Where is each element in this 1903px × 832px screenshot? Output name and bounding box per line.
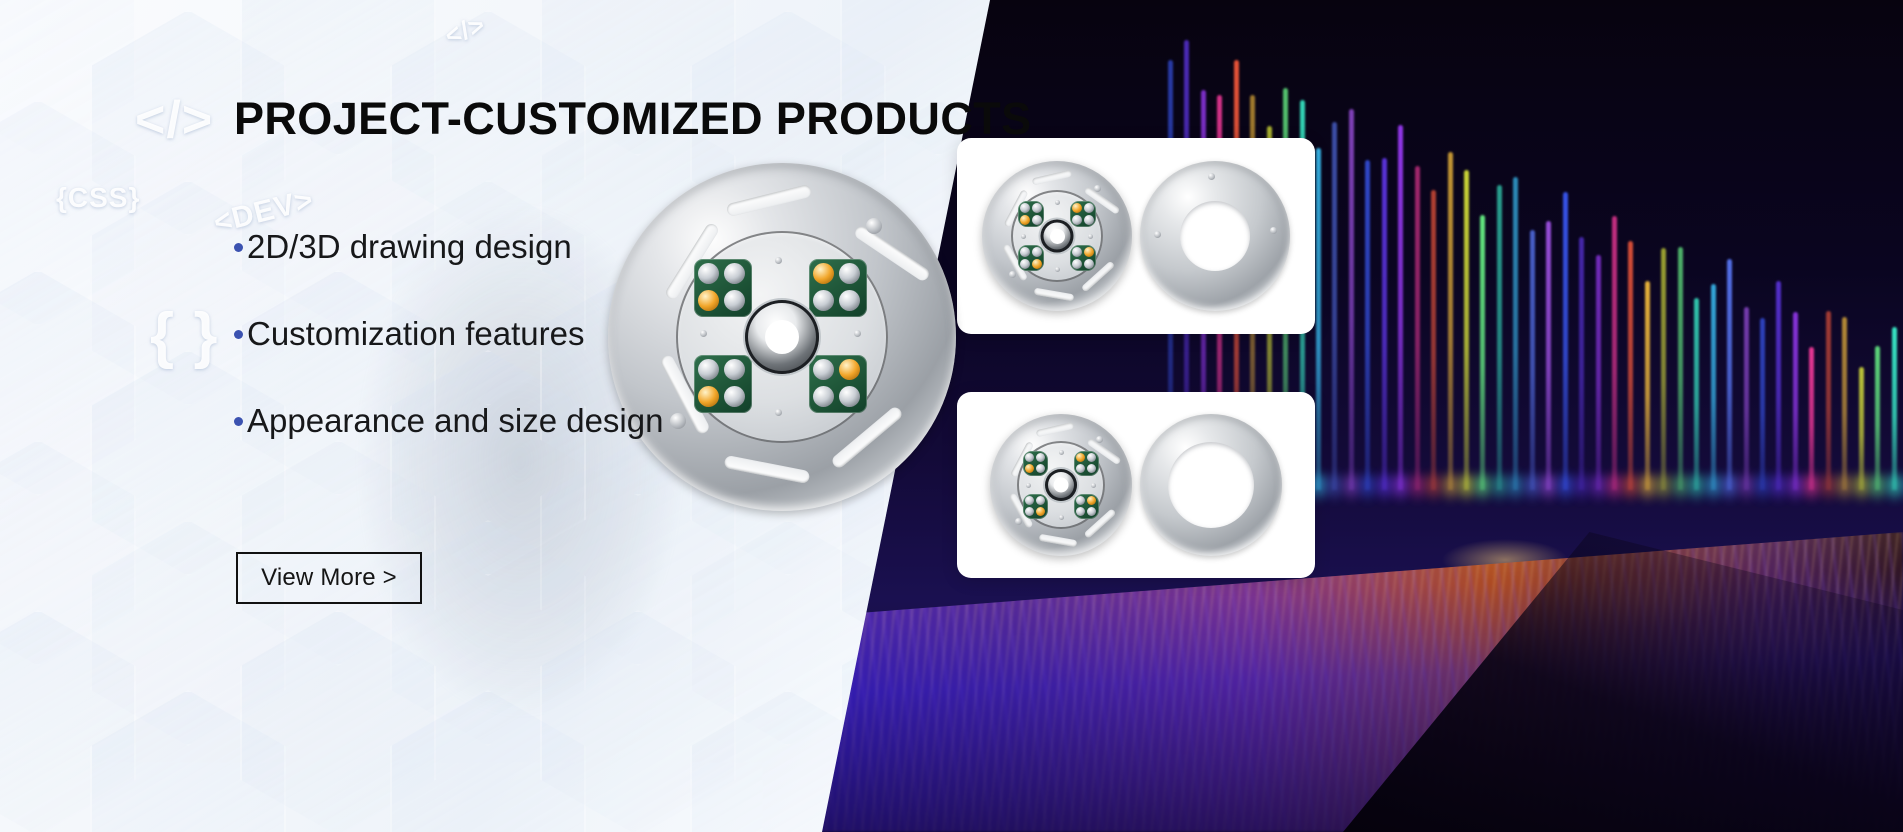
water-nozzle — [1041, 220, 1074, 253]
bullet-dot-icon — [234, 243, 243, 252]
bezel-ring — [1140, 414, 1282, 556]
face-screw — [1091, 483, 1096, 488]
water-jet — [1842, 317, 1847, 490]
product-card — [957, 138, 1315, 334]
led-cluster — [1074, 494, 1099, 519]
water-nozzle — [745, 300, 819, 374]
face-screw — [1059, 515, 1064, 520]
led-cluster — [1023, 494, 1048, 519]
list-item: Appearance and size design — [234, 402, 663, 440]
led-cluster — [1018, 245, 1044, 271]
water-jet — [1448, 152, 1453, 490]
water-jet — [1398, 125, 1403, 490]
face-screw — [1088, 234, 1093, 239]
water-jet — [1793, 312, 1798, 490]
mounting-screw — [1096, 436, 1103, 443]
water-jet — [1694, 298, 1699, 490]
led-cluster — [1070, 245, 1096, 271]
bezel-screw — [1270, 227, 1277, 234]
water-jet — [1661, 248, 1666, 490]
water-jet — [1628, 241, 1633, 490]
water-jet — [1859, 367, 1864, 490]
vent-slot — [1034, 288, 1075, 302]
water-jet — [1563, 192, 1568, 490]
mounting-screw — [1015, 518, 1022, 525]
led-cluster — [1023, 451, 1048, 476]
water-jet — [1579, 237, 1584, 490]
water-jet — [1596, 255, 1601, 490]
led-inner-face — [676, 231, 888, 443]
led-inner-face — [1011, 190, 1103, 282]
mounting-screw — [866, 218, 882, 234]
led-cluster — [1018, 201, 1044, 227]
water-jet — [1365, 160, 1370, 490]
water-jet — [1744, 307, 1749, 490]
face-screw — [775, 409, 782, 416]
led-cluster — [809, 259, 867, 317]
water-jet — [1760, 318, 1765, 490]
water-jet — [1809, 347, 1814, 490]
face-screw — [854, 330, 861, 337]
bezel-ring — [1140, 161, 1290, 311]
list-item: 2D/3D drawing design — [234, 228, 663, 266]
water-nozzle — [1045, 469, 1077, 501]
face-screw — [1021, 234, 1026, 239]
face-screw — [1055, 267, 1060, 272]
face-screw — [1026, 483, 1031, 488]
fixture-body — [982, 161, 1132, 311]
list-item-label: Appearance and size design — [247, 402, 663, 440]
water-jet — [1431, 190, 1436, 490]
water-jet — [1349, 109, 1354, 491]
fixture-body — [990, 414, 1132, 556]
water-jet — [1776, 281, 1781, 490]
water-jet — [1892, 327, 1897, 490]
led-cluster — [694, 355, 752, 413]
mounting-screw — [1094, 185, 1101, 192]
water-jet — [1464, 170, 1469, 490]
face-screw — [700, 330, 707, 337]
water-jet — [1415, 166, 1420, 490]
list-item-label: 2D/3D drawing design — [247, 228, 572, 266]
led-cluster — [1070, 201, 1096, 227]
bullet-dot-icon — [234, 417, 243, 426]
water-jet — [1875, 346, 1880, 490]
product-card — [957, 392, 1315, 578]
feature-list: 2D/3D drawing design Customization featu… — [234, 228, 663, 489]
bezel-screw — [1154, 231, 1161, 238]
water-jet — [1711, 284, 1716, 490]
led-inner-face — [1017, 441, 1105, 529]
water-jet — [1727, 259, 1732, 490]
vent-slot — [1039, 534, 1078, 547]
view-more-button[interactable]: View More > — [236, 552, 422, 604]
led-cluster — [809, 355, 867, 413]
led-cluster — [1074, 451, 1099, 476]
vent-slot — [724, 455, 811, 484]
water-jet — [1645, 281, 1650, 490]
promo-banner: </><DEV>{CSS}{ }</> PROJECT-CUSTOMIZED P… — [0, 0, 1903, 832]
face-screw — [1055, 200, 1060, 205]
bullet-dot-icon — [234, 330, 243, 339]
led-cluster — [694, 259, 752, 317]
page-title: PROJECT-CUSTOMIZED PRODUCTS — [234, 93, 1032, 145]
mounting-screw — [1009, 271, 1016, 278]
face-screw — [1059, 450, 1064, 455]
water-jet — [1678, 247, 1683, 490]
water-jet — [1382, 158, 1387, 490]
mounting-screw — [670, 413, 686, 429]
bezel-hole — [1168, 442, 1254, 528]
water-jet — [1316, 148, 1321, 490]
water-jet — [1826, 311, 1831, 490]
vent-slot — [1032, 170, 1073, 186]
list-item-label: Customization features — [247, 315, 585, 353]
water-jet — [1530, 230, 1535, 490]
vent-slot — [1036, 422, 1075, 437]
water-jet — [1480, 215, 1485, 490]
water-jet — [1612, 216, 1617, 490]
water-jet — [1546, 221, 1551, 490]
water-jet — [1497, 185, 1502, 490]
bezel-hole — [1180, 201, 1250, 271]
water-jet — [1513, 177, 1518, 490]
face-screw — [775, 257, 782, 264]
water-jet — [1332, 122, 1337, 490]
vent-slot — [726, 184, 813, 217]
bezel-screw — [1208, 173, 1215, 180]
list-item: Customization features — [234, 315, 663, 353]
